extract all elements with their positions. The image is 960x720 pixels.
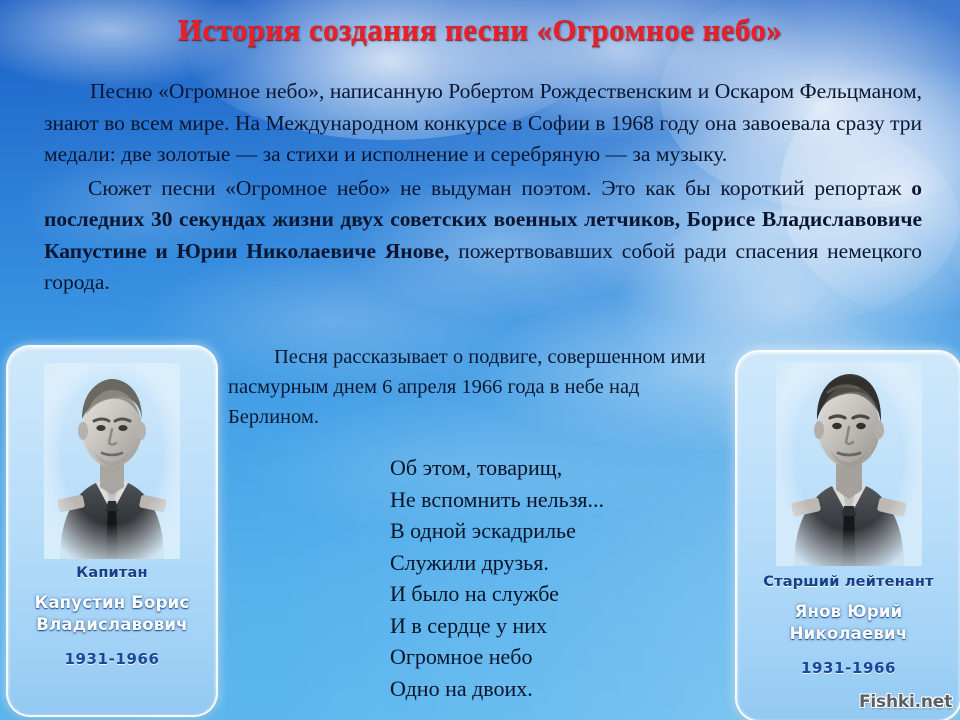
portrait-photo-yanov [737,362,960,566]
page-title: История создания песни «Огромное небо» [0,12,960,48]
poem-line: Об этом, товарищ, [390,452,604,484]
intro-prose: Песню «Огромное небо», написанную Роберт… [44,76,922,301]
portrait-icon [44,363,180,559]
portrait-photo-kapustin [8,363,216,559]
paragraph-1: Песню «Огромное небо», написанную Роберт… [44,76,922,171]
portrait-card-kapustin: Капитан Капустин Борис Владиславович 193… [8,347,216,715]
card-name-line-1: Капустин Борис [8,592,216,614]
poem-line: Огромное небо [390,641,604,673]
card-rank: Капитан [8,565,216,581]
poem-block: Об этом, товарищ, Не вспомнить нельзя...… [390,452,604,704]
card-name-line-2: Владиславович [8,614,216,636]
card-name-line-1: Янов Юрий [737,601,960,623]
poem-line: И было на службе [390,578,604,610]
slide-root: История создания песни «Огромное небо» П… [0,0,960,720]
watermark-fishki: Fishki.net [859,692,952,712]
card-rank: Старший лейтенант [737,574,960,590]
card-years: 1931-1966 [737,659,960,677]
poem-line: И в сердце у них [390,610,604,642]
paragraph-2: Сюжет песни «Огромное небо» не выдуман п… [44,173,922,299]
paragraph-2-lead: Сюжет песни «Огромное небо» не выдуман п… [88,176,911,200]
portrait-icon [776,362,922,566]
card-years: 1931-1966 [8,650,216,668]
mid-note-text: Песня рассказывает о подвиге, совершенно… [228,342,728,432]
portrait-card-yanov: Старший лейтенант Янов Юрий Николаевич 1… [737,352,960,720]
poem-line: Одно на двоих. [390,673,604,705]
poem-line: Не вспомнить нельзя... [390,484,604,516]
card-caption-yanov: Старший лейтенант Янов Юрий Николаевич 1… [737,574,960,677]
poem-line: В одной эскадрилье [390,515,604,547]
card-name-line-2: Николаевич [737,623,960,645]
card-caption-kapustin: Капитан Капустин Борис Владиславович 193… [8,565,216,668]
poem-line: Служили друзья. [390,547,604,579]
mid-note-block: Песня рассказывает о подвиге, совершенно… [228,342,728,432]
